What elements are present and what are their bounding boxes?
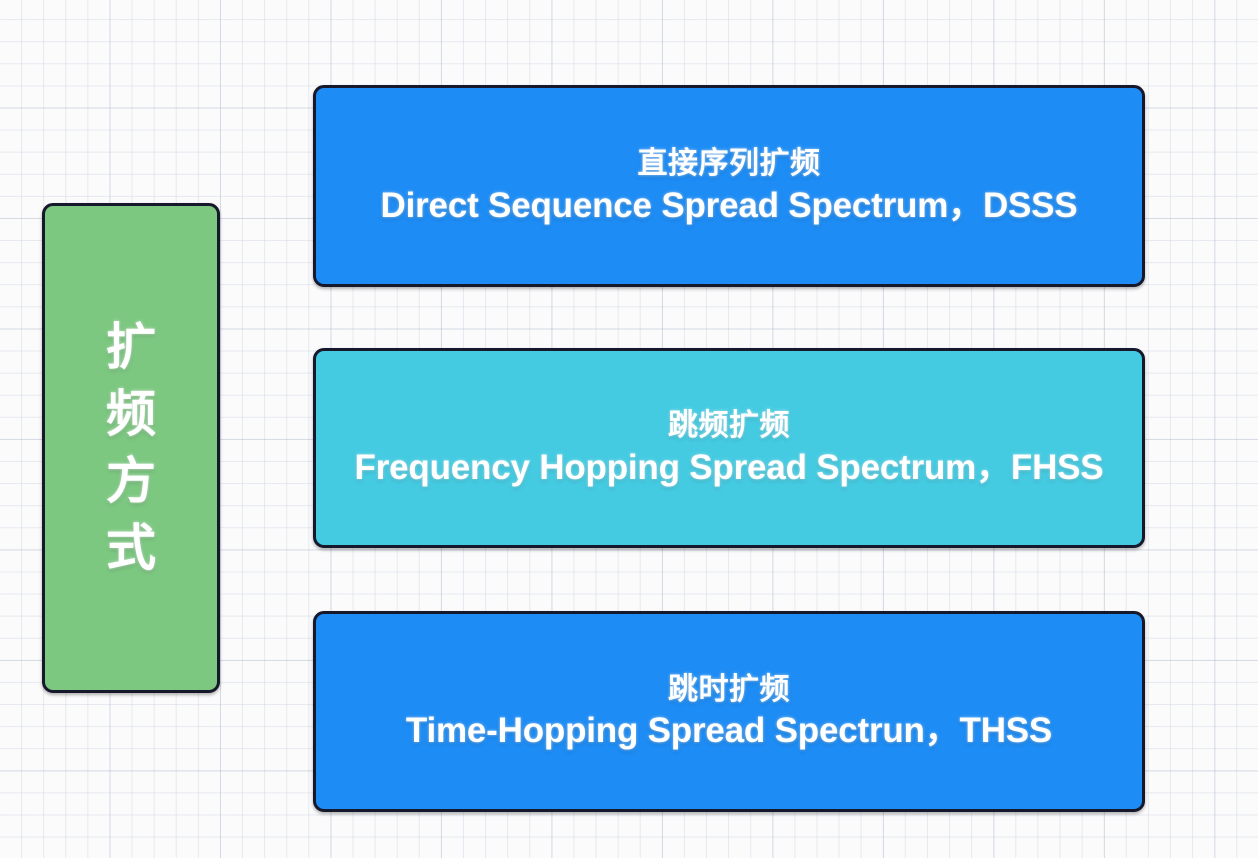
diagram-canvas: 扩 频 方 式 直接序列扩频 Direct Sequence Spread Sp… xyxy=(0,0,1258,858)
method-node-fhss-label-cn: 跳频扩频 xyxy=(355,408,1104,443)
category-char-4: 式 xyxy=(106,523,156,574)
method-node-dsss-text: 直接序列扩频 Direct Sequence Spread Spectrum，D… xyxy=(365,146,1094,226)
category-node-spread-spectrum-methods[interactable]: 扩 频 方 式 xyxy=(42,203,220,693)
method-node-dsss[interactable]: 直接序列扩频 Direct Sequence Spread Spectrum，D… xyxy=(313,85,1145,287)
method-node-thss[interactable]: 跳时扩频 Time-Hopping Spread Spectrun，THSS xyxy=(313,611,1145,812)
category-node-vertical-label: 扩 频 方 式 xyxy=(106,314,156,582)
method-node-thss-label-en: Time-Hopping Spread Spectrun，THSS xyxy=(406,710,1052,751)
method-node-fhss-text: 跳频扩频 Frequency Hopping Spread Spectrum，F… xyxy=(339,408,1120,488)
category-char-2: 频 xyxy=(106,389,156,440)
method-node-thss-text: 跳时扩频 Time-Hopping Spread Spectrun，THSS xyxy=(390,672,1068,752)
method-node-fhss[interactable]: 跳频扩频 Frequency Hopping Spread Spectrum，F… xyxy=(313,348,1145,548)
method-node-dsss-label-cn: 直接序列扩频 xyxy=(381,146,1078,181)
method-node-dsss-label-en: Direct Sequence Spread Spectrum，DSSS xyxy=(381,185,1078,226)
category-char-3: 方 xyxy=(106,456,156,507)
method-node-fhss-label-en: Frequency Hopping Spread Spectrum，FHSS xyxy=(355,447,1104,488)
category-char-1: 扩 xyxy=(106,322,156,373)
method-node-thss-label-cn: 跳时扩频 xyxy=(406,672,1052,707)
